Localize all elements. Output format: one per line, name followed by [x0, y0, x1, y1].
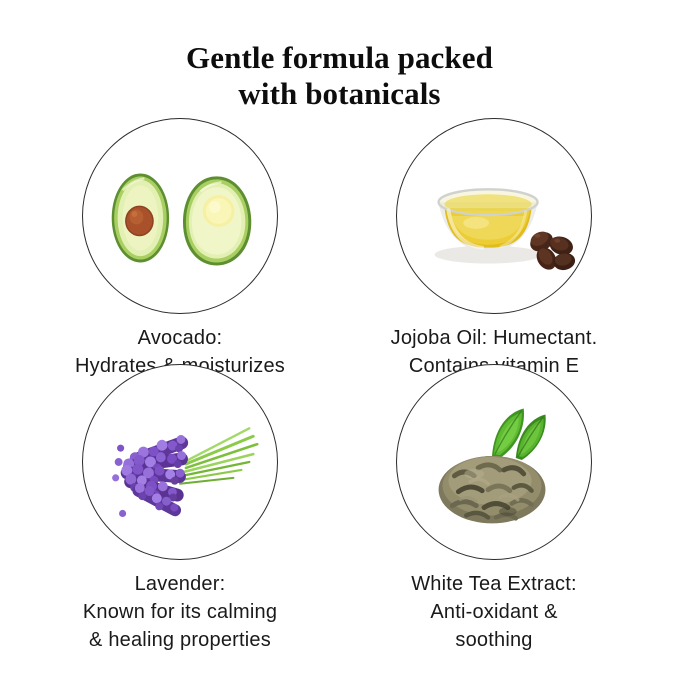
caption-line-1: Lavender: — [20, 570, 340, 598]
ingredient-card-jojoba-oil: Jojoba Oil: Humectant. Contains vitamin … — [334, 118, 654, 380]
caption-line-2: Anti-oxidant & — [334, 598, 654, 626]
page-title: Gentle formula packed with botanicals — [0, 40, 679, 112]
ingredient-card-lavender: Lavender: Known for its calming & healin… — [20, 364, 340, 654]
jojoba-oil-bowl-illustration — [397, 119, 591, 313]
ingredient-caption-white-tea: White Tea Extract: Anti-oxidant & soothi… — [334, 570, 654, 654]
ingredient-circle-avocado — [82, 118, 278, 314]
caption-line-1: Avocado: — [20, 324, 340, 352]
white-tea-leaves-illustration — [397, 365, 591, 559]
caption-line-3: & healing properties — [20, 626, 340, 654]
ingredient-card-white-tea: White Tea Extract: Anti-oxidant & soothi… — [334, 364, 654, 654]
ingredient-grid: Avocado: Hydrates & moisturizes — [0, 118, 679, 678]
caption-line-1: Jojoba Oil: Humectant. — [334, 324, 654, 352]
ingredient-caption-lavender: Lavender: Known for its calming & healin… — [20, 570, 340, 654]
ingredient-circle-white-tea — [396, 364, 592, 560]
caption-line-1: White Tea Extract: — [334, 570, 654, 598]
ingredient-circle-jojoba-oil — [396, 118, 592, 314]
ingredient-card-avocado: Avocado: Hydrates & moisturizes — [20, 118, 340, 380]
lavender-bundle-illustration — [83, 365, 277, 559]
avocado-halves-illustration — [83, 119, 277, 313]
caption-line-3: soothing — [334, 626, 654, 654]
page-title-line-2: with botanicals — [0, 76, 679, 112]
caption-line-2: Known for its calming — [20, 598, 340, 626]
ingredient-circle-lavender — [82, 364, 278, 560]
page-title-line-1: Gentle formula packed — [0, 40, 679, 76]
